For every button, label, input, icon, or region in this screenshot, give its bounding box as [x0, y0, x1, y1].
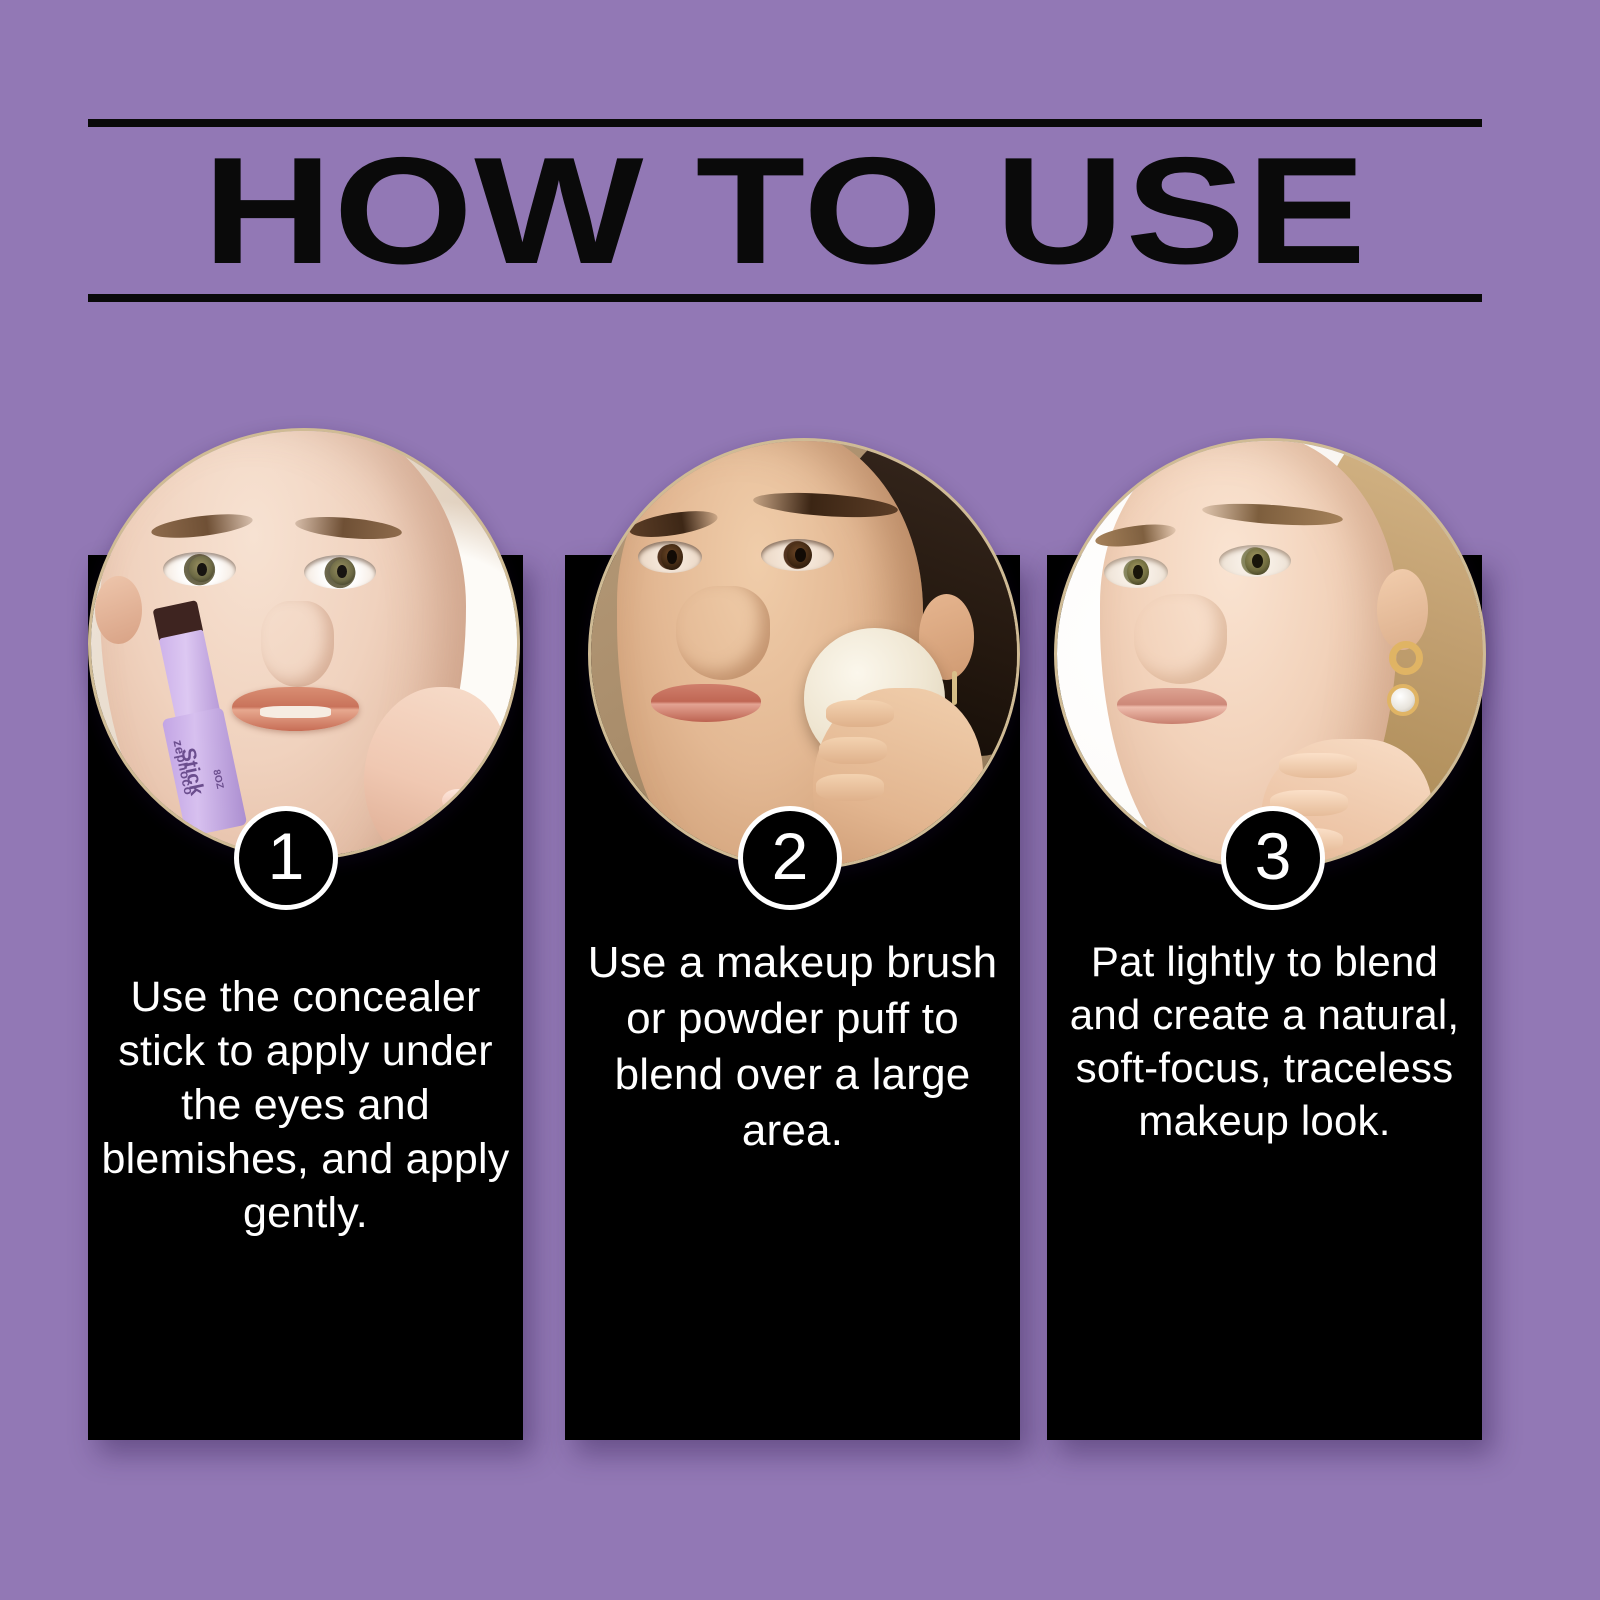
step-number-2: 2: [772, 823, 809, 889]
pupil-icon: [667, 550, 677, 564]
step-2-image: [588, 438, 1020, 870]
fingernail: [448, 833, 480, 856]
step-1-image: zephoco Stick 8OZ: [88, 428, 520, 860]
fingernail: [446, 812, 478, 835]
step-number-badge-2: 2: [738, 806, 842, 910]
step-number-badge-3: 3: [1221, 806, 1325, 910]
fingernail: [442, 789, 474, 812]
nose-shape: [1134, 594, 1228, 683]
teeth-shape: [260, 706, 332, 718]
pupil-icon: [197, 563, 207, 577]
eye-right: [761, 539, 833, 571]
lips-shape: [651, 684, 762, 722]
pupil-icon: [795, 548, 806, 562]
eye-left: [638, 541, 702, 573]
ear-shape: [1377, 569, 1428, 650]
ear-shape: [95, 576, 142, 644]
pupil-icon: [1133, 565, 1143, 579]
eye-right: [304, 555, 376, 589]
finger: [1279, 753, 1357, 779]
eye-left: [1104, 556, 1168, 588]
step-1-text: Use the concealer stick to apply under t…: [88, 970, 523, 1240]
step-3-text: Pat lightly to blend and create a natura…: [1047, 935, 1482, 1147]
step-number-3: 3: [1255, 823, 1292, 889]
finger: [826, 700, 894, 727]
nose-shape: [261, 601, 333, 686]
earring-icon: [952, 671, 957, 705]
earring-charm-icon: [1387, 684, 1419, 716]
nose-shape: [676, 586, 770, 680]
step-number-1: 1: [268, 823, 305, 889]
step-2-text: Use a makeup brush or powder puff to ble…: [565, 935, 1020, 1159]
step-number-badge-1: 1: [234, 806, 338, 910]
finger: [816, 774, 884, 801]
steps-container: Use the concealer stick to apply under t…: [0, 0, 1600, 1600]
finger: [819, 737, 887, 764]
